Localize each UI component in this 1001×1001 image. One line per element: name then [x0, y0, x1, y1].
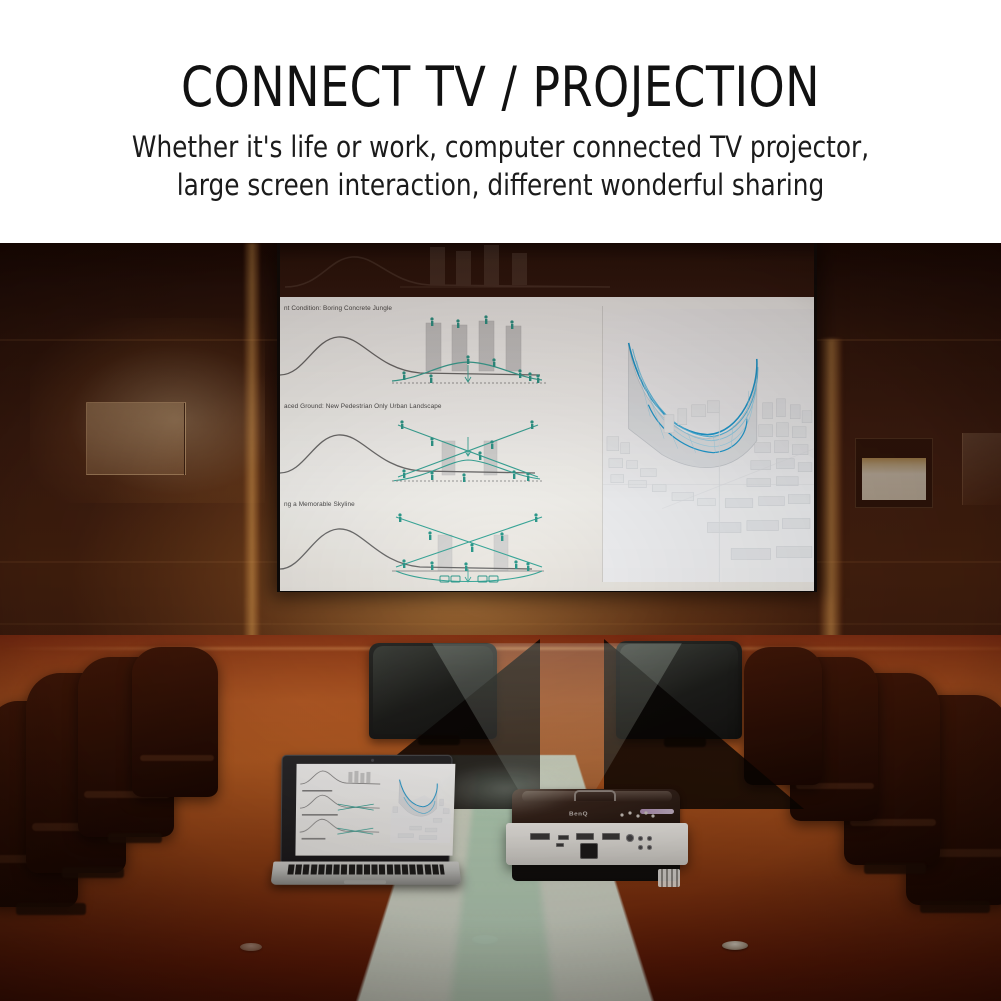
chair-right-4 [744, 647, 822, 785]
slide-content: nt Condition: Boring Concrete Jungle [280, 297, 814, 591]
product-marketing-image: CONNECT TV / PROJECTION Whether it's lif… [0, 0, 1001, 1001]
diagram-3 [280, 509, 610, 589]
projector-rear-panel [506, 823, 688, 865]
diagram-1 [280, 313, 610, 393]
port-audio-in[interactable] [638, 836, 643, 841]
port-rs232[interactable] [647, 845, 652, 850]
chair-base [16, 903, 86, 915]
slide-left-panel: nt Condition: Boring Concrete Jungle [280, 297, 603, 591]
framed-artwork [855, 438, 933, 508]
diagram-caption-3: ng a Memorable Skyline [284, 501, 355, 509]
chair-base [664, 737, 706, 747]
mini-diagrams [297, 766, 390, 854]
diagram-caption-1: nt Condition: Boring Concrete Jungle [284, 305, 392, 313]
chair-base [920, 901, 990, 913]
laptop-trackpad[interactable] [344, 880, 386, 884]
projector-vent-grille [658, 869, 680, 887]
table-cable-grommet [722, 941, 748, 950]
table-cable-grommet [472, 935, 498, 944]
port-power-socket[interactable] [580, 843, 598, 859]
laptop-webcam-icon [371, 758, 374, 761]
chair-rim [140, 755, 214, 761]
chair-base [108, 833, 162, 843]
page-title: CONNECT TV / PROJECTION [35, 58, 966, 116]
table-cable-grommet [240, 943, 262, 951]
screen-unlit-band [280, 243, 814, 297]
laptop-lid [280, 755, 452, 863]
chair-base [864, 863, 926, 874]
conference-room-photo: nt Condition: Boring Concrete Jungle [0, 243, 1001, 1001]
chair-center-right [616, 641, 742, 739]
laptop-keyboard[interactable] [287, 865, 444, 875]
framed-artwork-secondary [962, 433, 1001, 505]
port-usb-b[interactable] [556, 843, 564, 847]
diagram-2 [280, 411, 610, 491]
projector-handle[interactable] [574, 790, 616, 801]
whiteboard-divider [184, 403, 185, 475]
chair-base [418, 735, 460, 745]
laptop[interactable] [272, 755, 454, 895]
projector-control-buttons-icon[interactable] [618, 809, 658, 821]
port-audio-out[interactable] [647, 836, 652, 841]
port-s-video[interactable] [626, 834, 634, 842]
artwork-mat [862, 458, 926, 500]
port-vga-in[interactable] [530, 833, 550, 840]
header-banner: CONNECT TV / PROJECTION Whether it's lif… [0, 0, 1001, 243]
chair-base [62, 867, 124, 878]
urban-model-3d [603, 309, 814, 582]
port-hdmi-2[interactable] [602, 833, 620, 840]
port-composite[interactable] [638, 845, 643, 850]
chair-center-left [369, 643, 497, 739]
table-light-reflection [436, 763, 576, 815]
page-subtitle: Whether it's life or work, computer conn… [101, 128, 900, 204]
whiteboard [86, 402, 186, 475]
chair-left-4 [132, 647, 218, 797]
ghost-diagram-icon [280, 243, 814, 297]
wall-seam [0, 623, 1001, 625]
diagram-caption-2: aced Ground: New Pedestrian Only Urban L… [284, 403, 442, 411]
port-usb[interactable] [558, 835, 569, 840]
port-hdmi-1[interactable] [576, 833, 594, 840]
laptop-screen [295, 764, 455, 856]
projection-screen: nt Condition: Boring Concrete Jungle [277, 243, 817, 592]
slide-right-panel [603, 309, 814, 582]
laptop-slide-left [297, 766, 390, 854]
